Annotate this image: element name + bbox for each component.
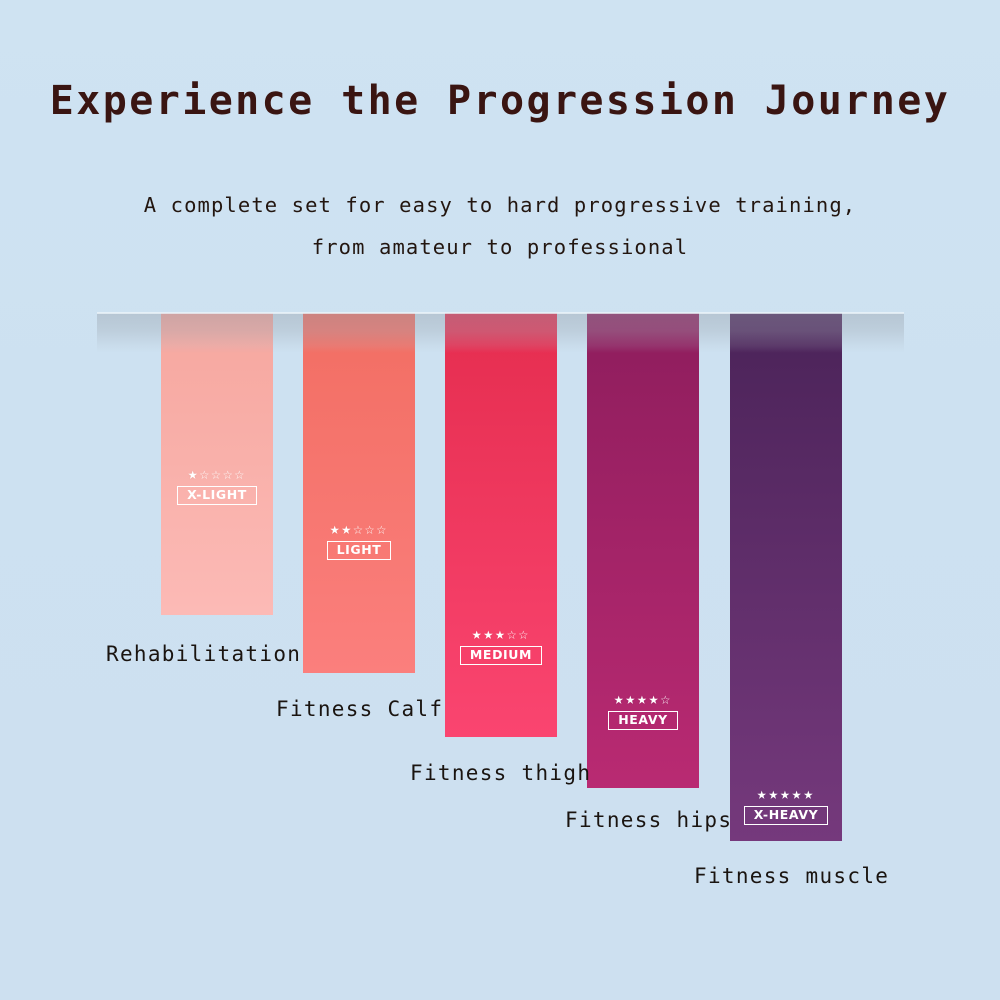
page-subtitle: A complete set for easy to hard progress… (0, 184, 1000, 268)
band-grade-label-x-light: X-LIGHT (177, 486, 257, 505)
star-rating-light: ★★☆☆☆ (303, 520, 415, 538)
band-badge-x-light: ★☆☆☆☆X-LIGHT (161, 465, 273, 505)
stars-empty-icon: ☆☆ (507, 624, 530, 643)
band-badge-x-heavy: ★★★★★X-HEAVY (730, 785, 842, 825)
star-rating-heavy: ★★★★☆ (587, 690, 699, 708)
stars-filled-icon: ★★★★★ (757, 784, 815, 803)
resistance-band-light[interactable]: ★★☆☆☆LIGHT (303, 313, 415, 673)
resistance-band-x-heavy[interactable]: ★★★★★X-HEAVY (730, 313, 842, 841)
band-caption-medium: Fitness thigh (410, 761, 591, 785)
subtitle-line-1: A complete set for easy to hard progress… (0, 184, 1000, 226)
stars-filled-icon: ★★ (330, 519, 353, 538)
stars-filled-icon: ★ (188, 464, 200, 483)
stars-filled-icon: ★★★ (472, 624, 507, 643)
band-fill-light (303, 313, 415, 673)
band-caption-heavy: Fitness hips (565, 808, 732, 832)
resistance-band-x-light[interactable]: ★☆☆☆☆X-LIGHT (161, 313, 273, 615)
band-caption-light: Fitness Calf (276, 697, 443, 721)
resistance-band-heavy[interactable]: ★★★★☆HEAVY (587, 313, 699, 788)
band-caption-x-heavy: Fitness muscle (694, 864, 889, 888)
star-rating-x-light: ★☆☆☆☆ (161, 465, 273, 483)
band-badge-heavy: ★★★★☆HEAVY (587, 690, 699, 730)
band-grade-label-heavy: HEAVY (608, 711, 678, 730)
page-title: Experience the Progression Journey (0, 78, 1000, 124)
band-caption-x-light: Rehabilitation (106, 642, 301, 666)
stars-filled-icon: ★★★★ (614, 689, 661, 708)
star-rating-medium: ★★★☆☆ (445, 625, 557, 643)
band-fill-x-heavy (730, 313, 842, 841)
star-rating-x-heavy: ★★★★★ (730, 785, 842, 803)
resistance-band-medium[interactable]: ★★★☆☆MEDIUM (445, 313, 557, 737)
stars-empty-icon: ☆☆☆ (353, 519, 388, 538)
poster-canvas: Experience the Progression Journey A com… (0, 0, 1000, 1000)
band-grade-label-light: LIGHT (327, 541, 392, 560)
band-badge-light: ★★☆☆☆LIGHT (303, 520, 415, 560)
shelf-highlight-line (97, 312, 904, 314)
band-badge-medium: ★★★☆☆MEDIUM (445, 625, 557, 665)
stars-empty-icon: ☆☆☆☆ (200, 464, 247, 483)
band-fill-medium (445, 313, 557, 737)
subtitle-line-2: from amateur to professional (0, 226, 1000, 268)
band-grade-label-x-heavy: X-HEAVY (744, 806, 829, 825)
band-grade-label-medium: MEDIUM (460, 646, 542, 665)
stars-empty-icon: ☆ (660, 689, 672, 708)
